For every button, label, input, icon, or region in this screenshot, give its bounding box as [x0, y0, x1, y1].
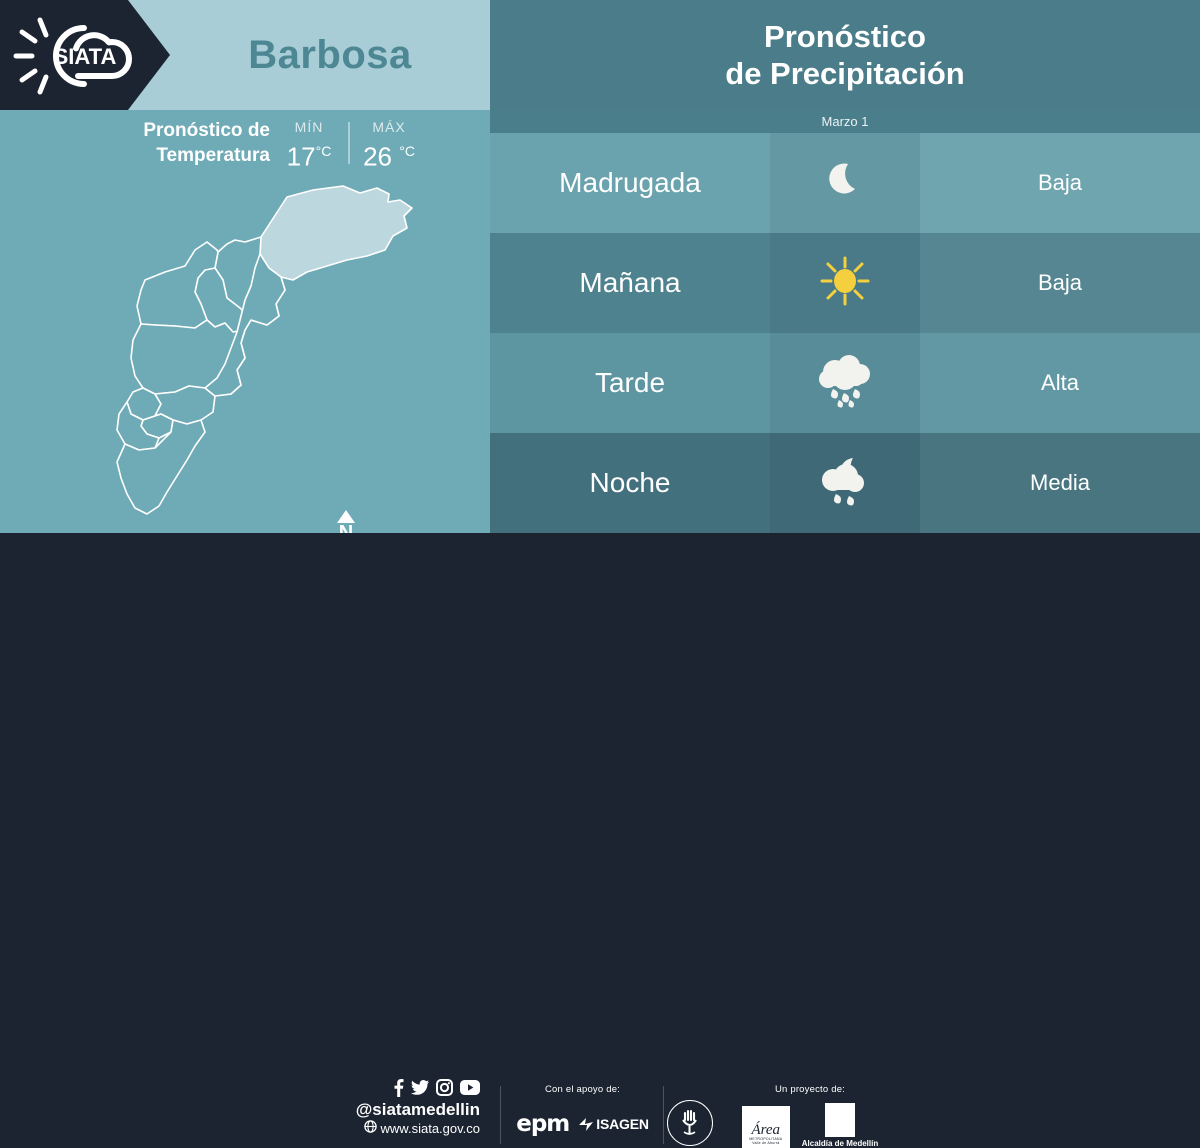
amva-signature: Área	[751, 1124, 780, 1137]
siata-logo-text: SIATA	[54, 44, 117, 69]
project-block: Un proyecto de: Área METROPOLITANA Valle…	[700, 1084, 920, 1148]
table-row: Madrugada Baja	[490, 133, 1200, 233]
youtube-icon[interactable]	[460, 1080, 480, 1100]
isagen-logo: ISAGEN	[579, 1116, 648, 1132]
siata-logo: SIATA	[10, 14, 150, 103]
alcaldia-logo: Alcaldía de Medellín	[802, 1103, 878, 1148]
left-panel: Barbosa SIATA Pronóstico de Temperat	[0, 0, 490, 533]
globe-icon	[364, 1120, 377, 1137]
social-icons	[330, 1081, 480, 1099]
precipitation-title-line1: Pronóstico	[764, 18, 926, 55]
facebook-icon[interactable]	[393, 1079, 404, 1102]
map-region-barbosa	[260, 186, 412, 280]
temperature-title: Pronóstico de Temperatura	[78, 118, 270, 168]
table-row: Noche	[490, 433, 1200, 533]
support-caption: Con el apoyo de:	[500, 1084, 665, 1095]
project-logos: Área METROPOLITANA Valle de Aburrá Alcal…	[700, 1103, 920, 1148]
temperature-min-label: MÍN	[295, 118, 324, 136]
temperature-min: MÍN 17°C	[280, 118, 338, 172]
alcaldia-label: Alcaldía de Medellín	[802, 1139, 878, 1148]
isagen-logo-text: ISAGEN	[596, 1116, 648, 1132]
project-caption: Un proyecto de:	[700, 1084, 920, 1095]
forecast-period-label: Noche	[590, 467, 671, 499]
forecast-period-cell: Mañana	[490, 233, 770, 333]
aburra-valley-map: N	[55, 180, 455, 530]
rain-cloud-icon	[816, 353, 874, 414]
precipitation-title-line2: de Precipitación	[725, 55, 964, 92]
support-logos: epm ISAGEN	[500, 1111, 665, 1137]
instagram-icon[interactable]	[436, 1079, 453, 1101]
forecast-level-label: Media	[1030, 470, 1090, 496]
forecast-level-label: Baja	[1038, 270, 1082, 296]
forecast-period-label: Mañana	[579, 267, 680, 299]
forecast-level-cell: Alta	[920, 333, 1200, 433]
temperature-divider	[348, 122, 350, 164]
forecast-period-label: Madrugada	[559, 167, 701, 199]
forecast-level-cell: Media	[920, 433, 1200, 533]
temperature-forecast: Pronóstico de Temperatura MÍN 17°C MÁX 2…	[0, 118, 490, 180]
temperature-max-value: 26 °C	[363, 136, 415, 172]
twitter-icon[interactable]	[411, 1080, 429, 1101]
forecast-period-cell: Noche	[490, 433, 770, 533]
map-svg	[55, 180, 455, 530]
forecast-period-cell: Madrugada	[490, 133, 770, 233]
forecast-date: Marzo 1	[490, 110, 1200, 133]
temperature-title-line1: Pronóstico de	[78, 118, 270, 143]
forecast-level-cell: Baja	[920, 233, 1200, 333]
table-row: Mañana	[490, 233, 1200, 333]
forecast-level-cell: Baja	[920, 133, 1200, 233]
infographic-canvas: Barbosa SIATA Pronóstico de Temperat	[0, 0, 1200, 630]
forecast-icon-cell	[770, 233, 920, 333]
forecast-icon-cell	[770, 133, 920, 233]
forecast-level-label: Baja	[1038, 170, 1082, 196]
support-block: Con el apoyo de: epm ISAGEN	[500, 1084, 665, 1137]
forecast-icon-cell	[770, 433, 920, 533]
temperature-max: MÁX 26 °C	[360, 118, 418, 172]
forecast-period-label: Tarde	[595, 367, 665, 399]
table-row: Tarde	[490, 333, 1200, 433]
night-rain-cloud-icon	[816, 452, 874, 515]
forecast-period-cell: Tarde	[490, 333, 770, 433]
forecast-date-label: Marzo 1	[822, 114, 869, 129]
epm-logo: epm	[516, 1111, 569, 1137]
sun-icon	[819, 255, 871, 312]
website-line[interactable]: www.siata.gov.co	[330, 1120, 480, 1137]
page-title: Barbosa	[170, 0, 490, 110]
moon-icon	[821, 157, 869, 210]
temperature-title-line2: Temperatura	[78, 143, 270, 168]
forecast-icon-cell	[770, 333, 920, 433]
website-label: www.siata.gov.co	[381, 1120, 480, 1137]
forecast-table: Madrugada Baja Mañana	[490, 133, 1200, 533]
amva-subtitle-2: Valle de Aburrá	[752, 1141, 779, 1146]
area-metropolitana-logo: Área METROPOLITANA Valle de Aburrá	[742, 1106, 790, 1148]
social-block: @siatamedellin www.siata.gov.co	[330, 1081, 480, 1137]
right-panel: Pronóstico de Precipitación Marzo 1 Madr…	[490, 0, 1200, 533]
footer: @siatamedellin www.siata.gov.co Con el a…	[0, 533, 1200, 630]
alcaldia-crest-icon	[825, 1103, 855, 1137]
temperature-values: MÍN 17°C MÁX 26 °C	[280, 118, 418, 172]
forecast-level-label: Alta	[1041, 370, 1079, 396]
precipitation-header: Pronóstico de Precipitación	[490, 0, 1200, 110]
social-handle[interactable]: @siatamedellin	[330, 1100, 480, 1120]
temperature-max-label: MÁX	[372, 118, 405, 136]
temperature-min-value: 17°C	[287, 136, 332, 172]
